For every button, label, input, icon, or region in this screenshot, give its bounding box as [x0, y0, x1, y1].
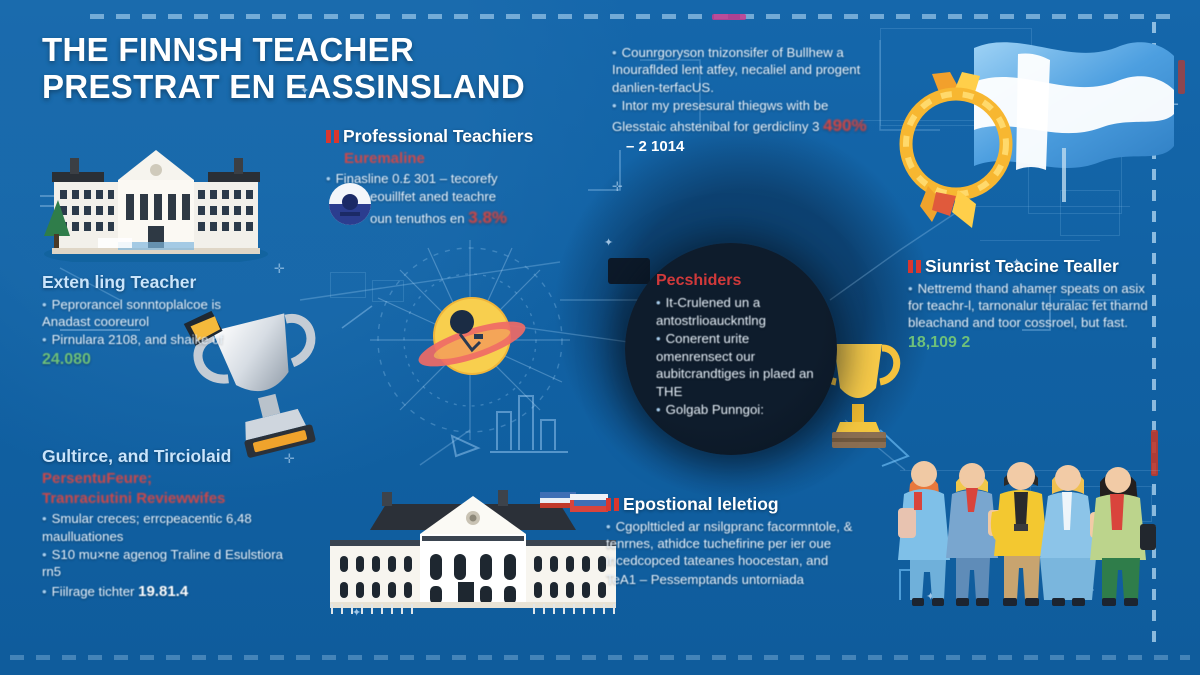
section-heading: Gultirce, and Tirciolaid	[42, 446, 292, 467]
top-dashed-border	[90, 14, 1170, 19]
bullet-item: eouillfet aned teachre	[370, 188, 578, 205]
bullet-item: Conerent urite omenrensect our aubitcran…	[656, 330, 828, 400]
highlight-value: 490%	[823, 116, 866, 135]
title-line-1: THE FINNSH TEACHER	[42, 32, 572, 69]
highlight-value: 24.080	[42, 351, 91, 368]
highlight-value: 18,109 2	[908, 334, 1148, 352]
title-line-2: PRESTRAT EN EASSINSLAND	[42, 69, 572, 106]
planet-orb-graphic	[410, 282, 532, 398]
group-of-teachers	[896, 432, 1156, 632]
page-title: THE FINNSH TEACHER PRESTRAT EN EASSINSLA…	[42, 32, 572, 106]
person-5	[1090, 467, 1156, 606]
small-flags-icon	[536, 488, 616, 528]
person-3	[991, 462, 1048, 606]
section-heading: Epostional leletiog	[606, 494, 878, 515]
section-culture-training: Gultirce, and Tirciolaid PersentuFeure; …	[42, 446, 292, 603]
highlight-value: 19.81.4	[138, 583, 188, 600]
bullet-item: Golgab Punngoi:	[656, 401, 828, 418]
section-bullets: Counrgoryson tnizonsifer of Bullhew a In…	[612, 44, 872, 137]
section-sunrise-teaching: Siunrist Teacine Tealler Nettremd thand …	[908, 256, 1148, 352]
section-bullets: It-Crulened un a antostrlioauckntlng Con…	[656, 294, 828, 418]
bullet-item: It-Crulened un a antostrlioauckntlng	[656, 294, 828, 329]
highlight-value: 3.8%	[468, 208, 507, 227]
quote-mark-icon	[908, 260, 921, 273]
bullet-item: oun tenuthos en 3.8%	[370, 207, 578, 229]
blueprint-rect-5	[330, 272, 366, 298]
bullet-item: Peprorancel sonntoplalcoe is Anadast coo…	[42, 296, 254, 331]
section-heading: Professional Teachiers	[326, 126, 578, 147]
bullet-item: Pirnulara 2108, and shaike of 24.080	[42, 331, 254, 370]
section-bullets: Smular creces; errcpeacentic 6,48 maullu…	[42, 510, 292, 601]
section-footer-value: – 2 1014	[626, 138, 872, 155]
section-subheading-line-2: Tranraciutini Reviewwifes	[42, 490, 292, 507]
section-country-transfer: Counrgoryson tnizonsifer of Bullhew a In…	[612, 44, 872, 155]
section-subheading-line-1: PersentuFeure;	[42, 470, 292, 487]
bullet-item: Cgopltticled ar nsilgpranc facormntole, …	[606, 518, 878, 570]
section-presiders: Pecshiders It-Crulened un a antostrlioau…	[656, 272, 828, 419]
blueprint-line-3	[980, 240, 1100, 241]
sparkle-icon: ✦	[604, 238, 613, 249]
bullet-item: TeA1 – Pessemptands untorniada	[606, 571, 878, 588]
blueprint-rect-6	[372, 280, 404, 302]
magenta-dash-accent	[712, 14, 746, 20]
callout-tab	[608, 258, 650, 284]
bullet-item: Fiilrage tichter 19.81.4	[42, 582, 292, 602]
quote-mark-icon	[606, 498, 619, 511]
round-emblem-icon	[328, 182, 372, 226]
bullet-item: Smular creces; errcpeacentic 6,48 maullu…	[42, 510, 292, 545]
bullet-item: Intor my presesural thiegws with be Gles…	[612, 97, 872, 137]
person-1	[898, 461, 950, 606]
section-heading: Siunrist Teacine Tealler	[908, 256, 1148, 277]
section-bullets: Cgopltticled ar nsilgpranc facormntole, …	[606, 518, 878, 589]
plus-marker-icon: ✛	[612, 180, 623, 193]
section-heading: Pecshiders	[656, 272, 828, 290]
infographic-canvas: ✦ ✦ ✦ ✦ ✦ ✛ ✛ ✛ ✛	[0, 0, 1200, 675]
bullet-item: S10 mu×ne agenog Traline d Esulstiora rn…	[42, 546, 292, 581]
bottom-dashed-border	[10, 655, 1190, 660]
section-bullets: Peprorancel sonntoplalcoe is Anadast coo…	[42, 296, 254, 370]
section-educational-meeting: Epostional leletiog Cgopltticled ar nsil…	[606, 494, 878, 589]
plus-marker-icon: ✛	[274, 262, 285, 275]
section-bullets: Nettremd thand ahamer speats on asix for…	[908, 280, 1148, 332]
section-subheading: Euremaline	[344, 150, 578, 167]
quote-mark-icon	[326, 130, 339, 143]
bullet-item: Nettremd thand ahamer speats on asix for…	[908, 280, 1148, 332]
neoclassical-building	[44, 138, 268, 262]
section-heading: Exten ling Teacher	[42, 272, 254, 293]
bullet-item: Counrgoryson tnizonsifer of Bullhew a In…	[612, 44, 872, 96]
section-extending-teacher: Exten ling Teacher Peprorancel sonntopla…	[42, 272, 254, 371]
gold-medal-ribbon	[880, 70, 1030, 240]
